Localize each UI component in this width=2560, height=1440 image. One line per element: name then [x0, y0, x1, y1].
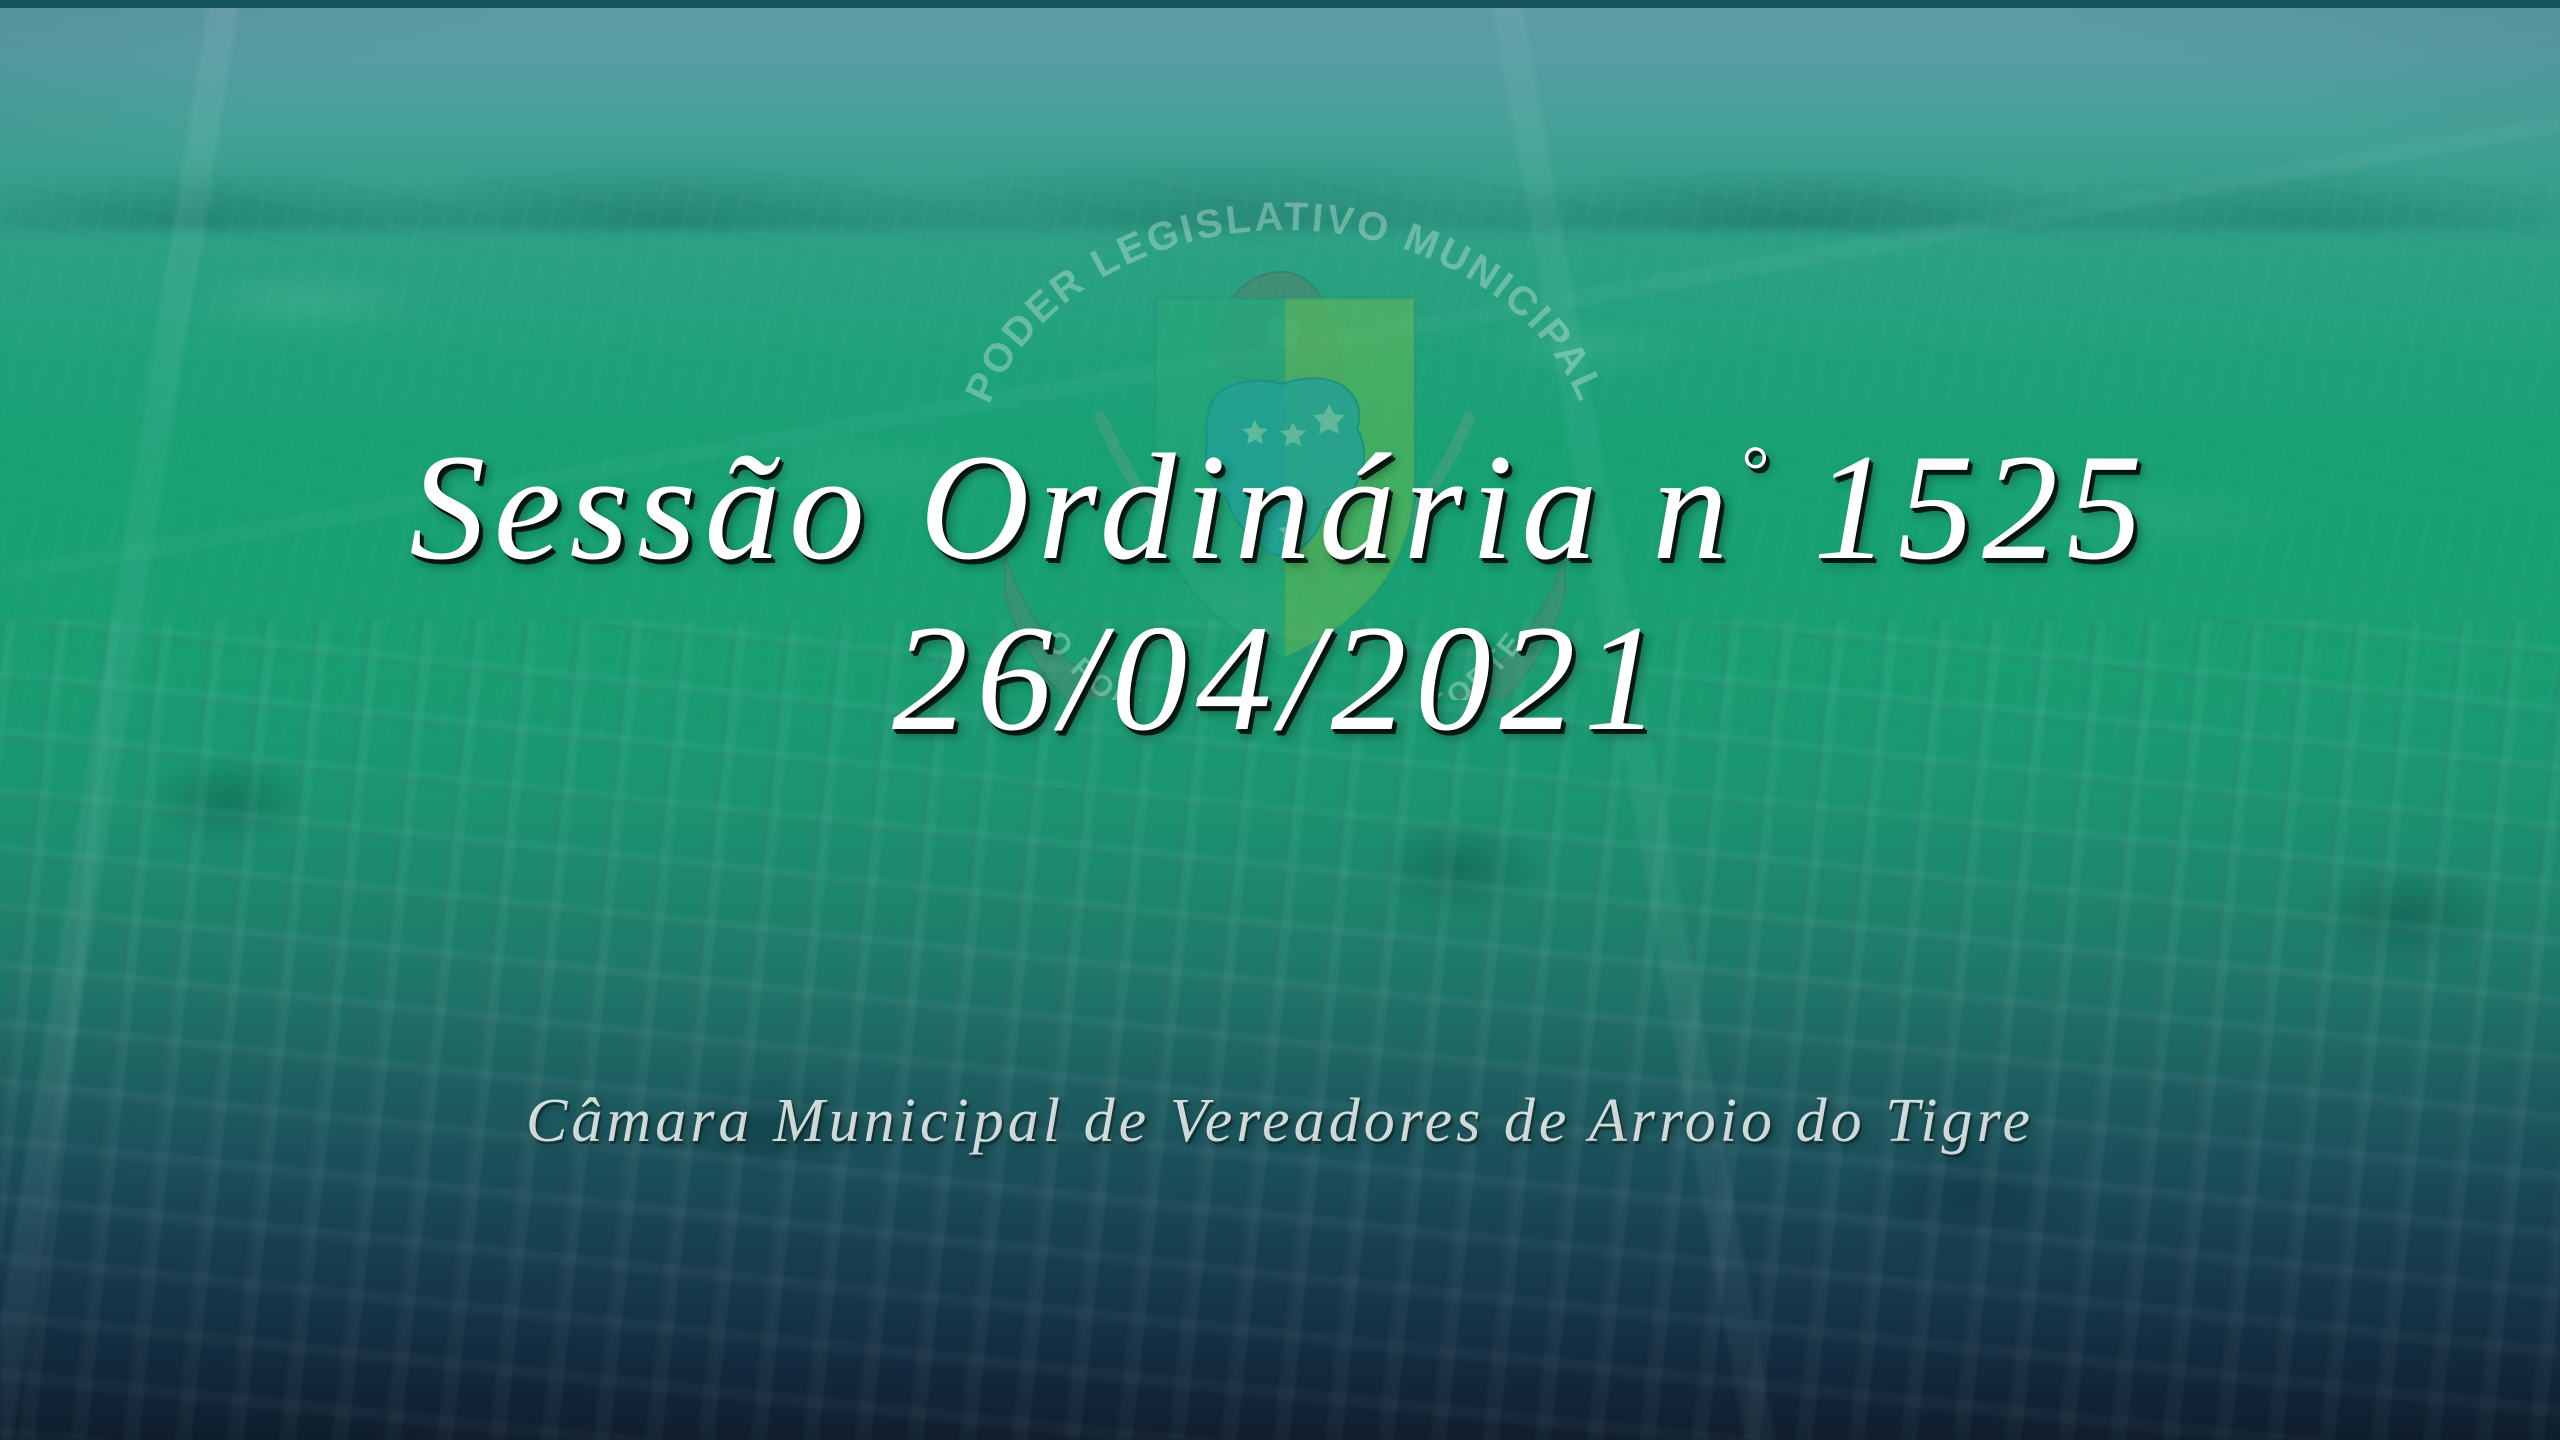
- video-title-card: PODER LEGISLATIVO MUNICIPAL: [0, 0, 2560, 1440]
- coat-of-arms-emblem: PODER LEGISLATIVO MUNICIPAL: [905, 180, 1665, 700]
- shield: [1155, 290, 1415, 670]
- background-top-band: [0, 0, 2560, 8]
